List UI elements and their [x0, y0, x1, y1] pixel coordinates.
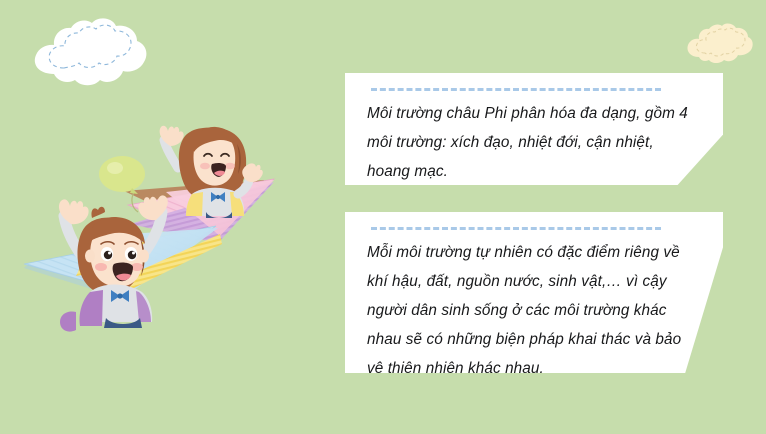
- dashed-rule: [371, 227, 661, 230]
- cloud-right: [684, 22, 754, 70]
- cloud-left: [28, 16, 150, 96]
- card-1-text: Môi trường châu Phi phân hóa đa dạng, gồ…: [367, 99, 701, 186]
- card-2-text: Mỗi môi trường tự nhiên có đặc điểm riên…: [367, 238, 701, 383]
- text-card-1: Môi trường châu Phi phân hóa đa dạng, gồ…: [345, 73, 723, 185]
- cloud-icon: [684, 22, 754, 70]
- slide-canvas: Môi trường châu Phi phân hóa đa dạng, gồ…: [0, 0, 766, 434]
- text-card-2: Mỗi môi trường tự nhiên có đặc điểm riên…: [345, 212, 723, 373]
- illustration-kids-paper-planes: [6, 96, 346, 326]
- cloud-icon: [28, 16, 150, 96]
- dashed-rule: [371, 88, 661, 91]
